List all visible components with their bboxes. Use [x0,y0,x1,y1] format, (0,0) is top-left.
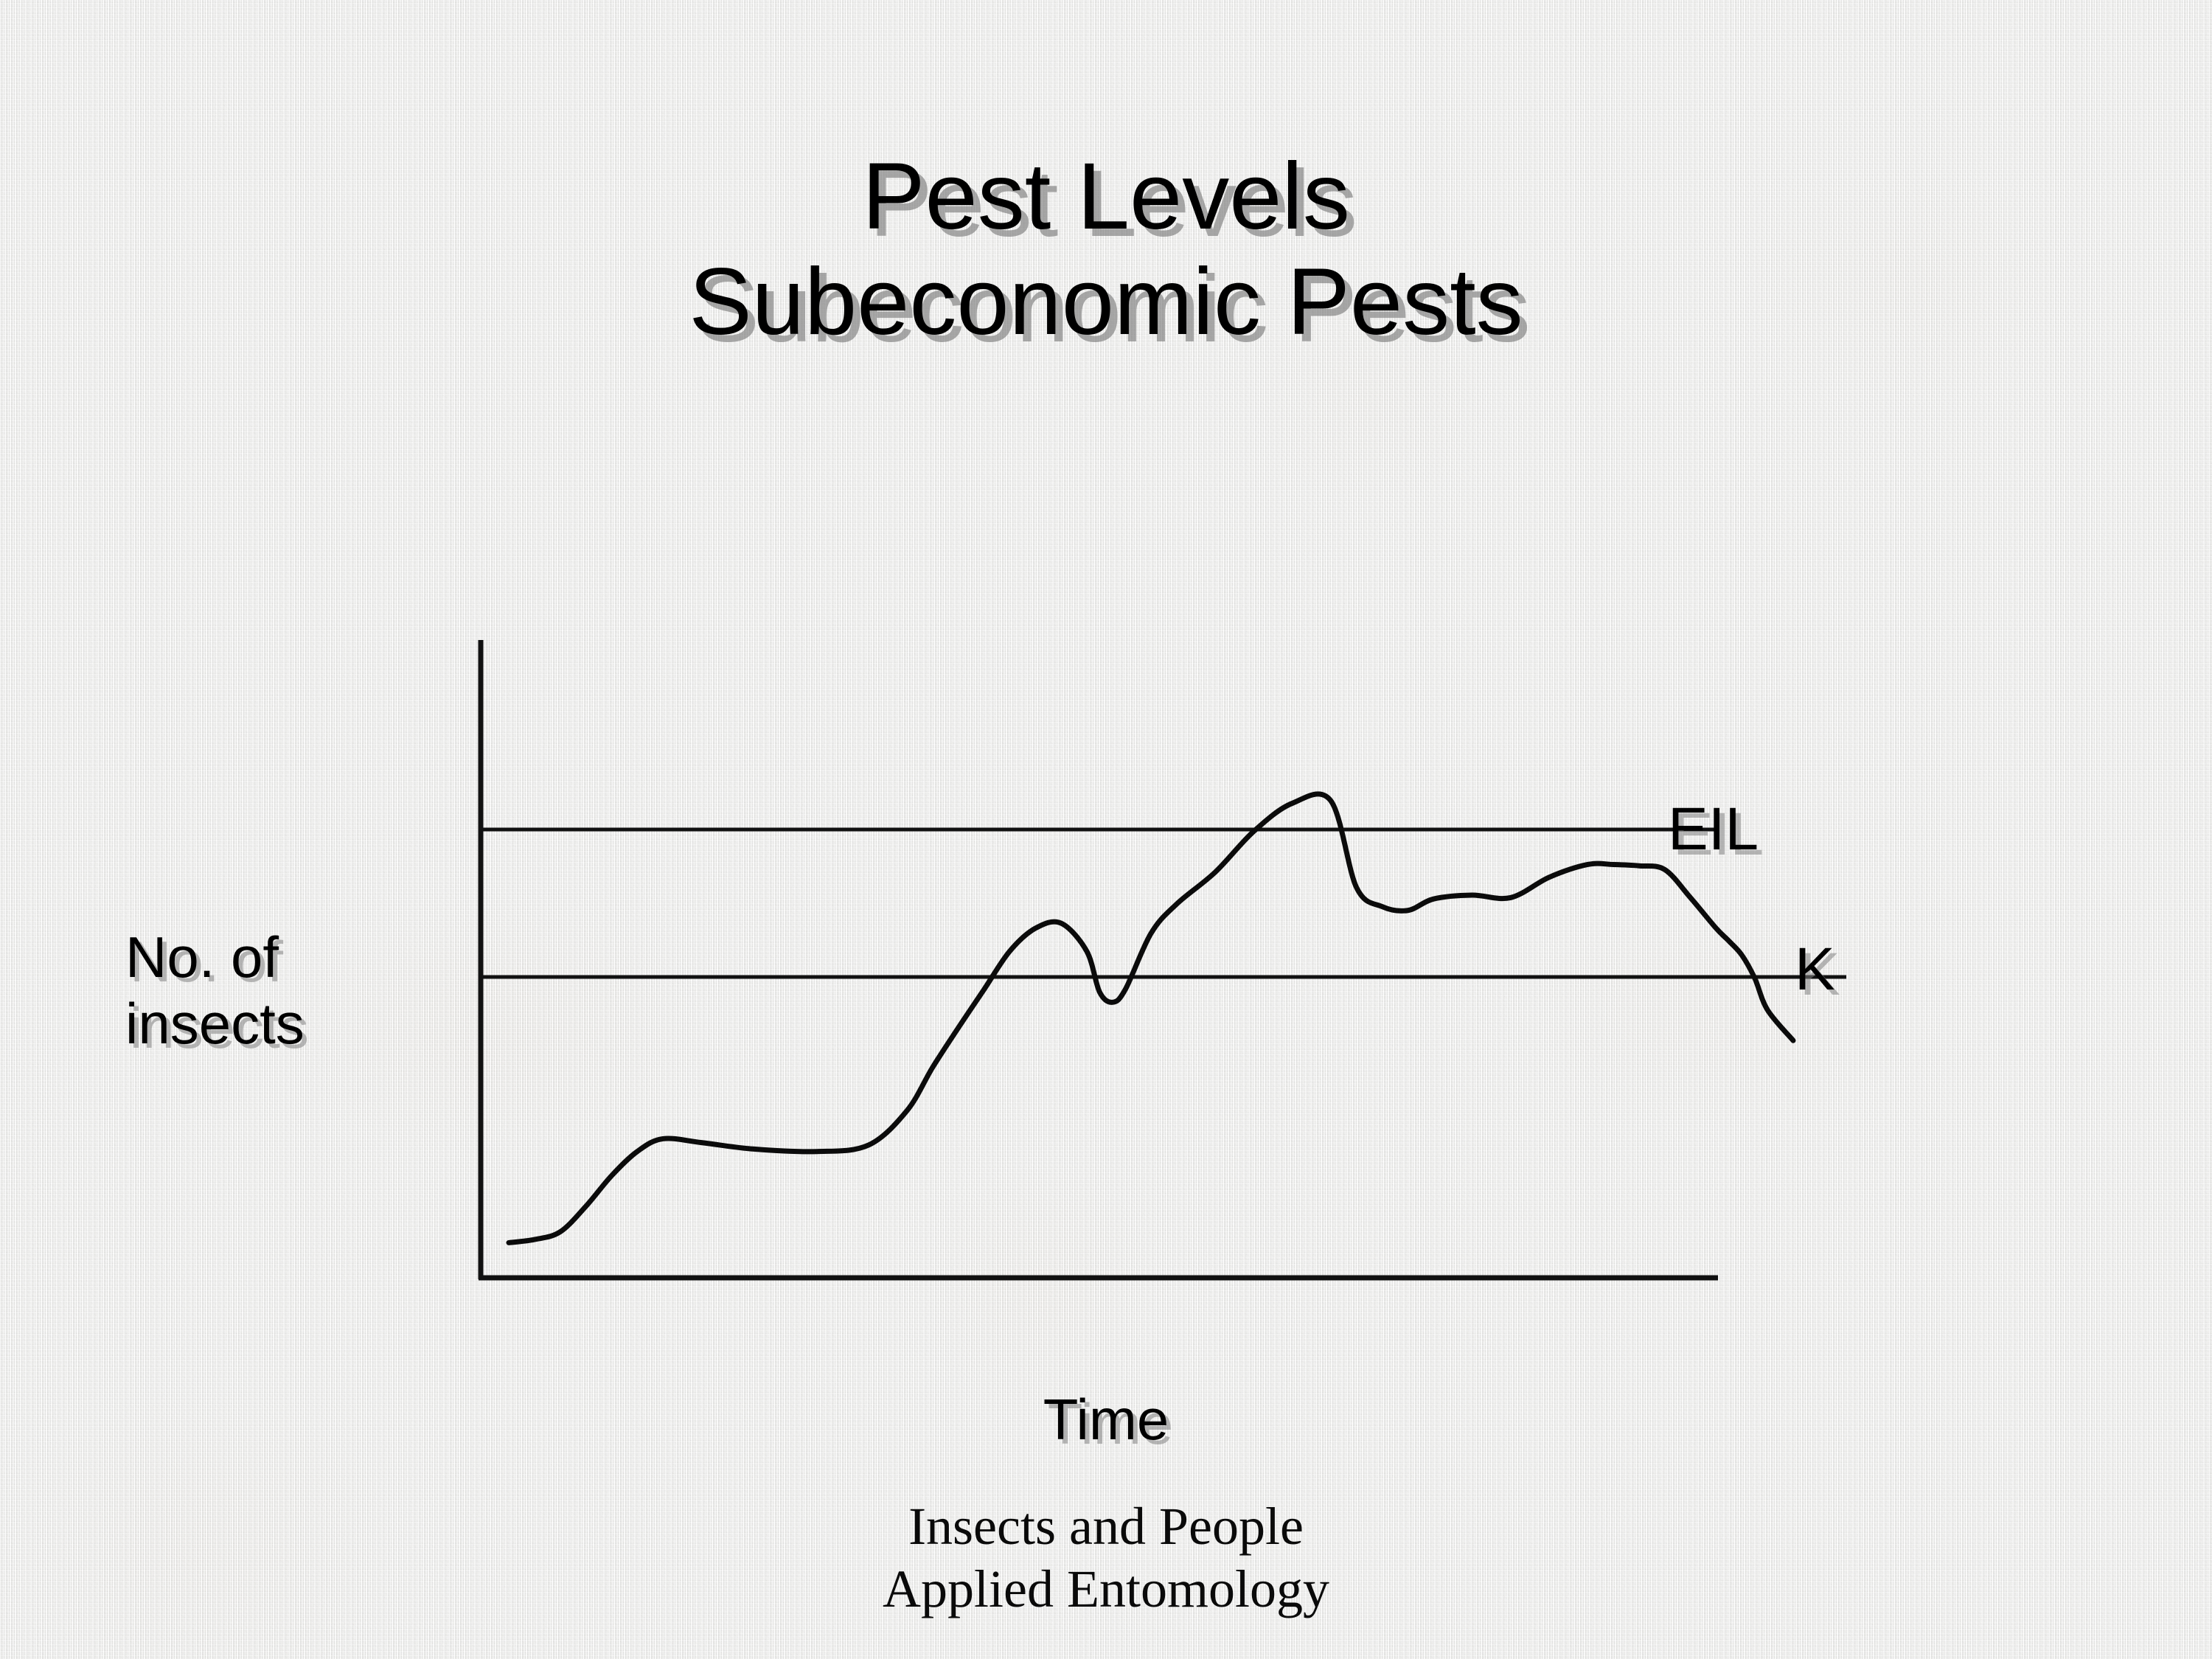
y-axis-label-line-1: No. of [125,924,442,990]
footer-line-1: Insects and People [0,1495,2212,1558]
x-axis-label-text: Time [1043,1387,1169,1452]
x-axis-label: Time [0,1386,2212,1453]
k-line-label: K [1795,935,1835,1004]
footer: Insects and People Applied Entomology [0,1495,2212,1621]
footer-line-2: Applied Entomology [0,1558,2212,1621]
population-curve [509,794,1793,1243]
y-axis-label: No. of insects [125,924,442,1057]
y-axis-label-line-2: insects [125,990,442,1057]
eil-line-label: EIL [1668,795,1759,864]
